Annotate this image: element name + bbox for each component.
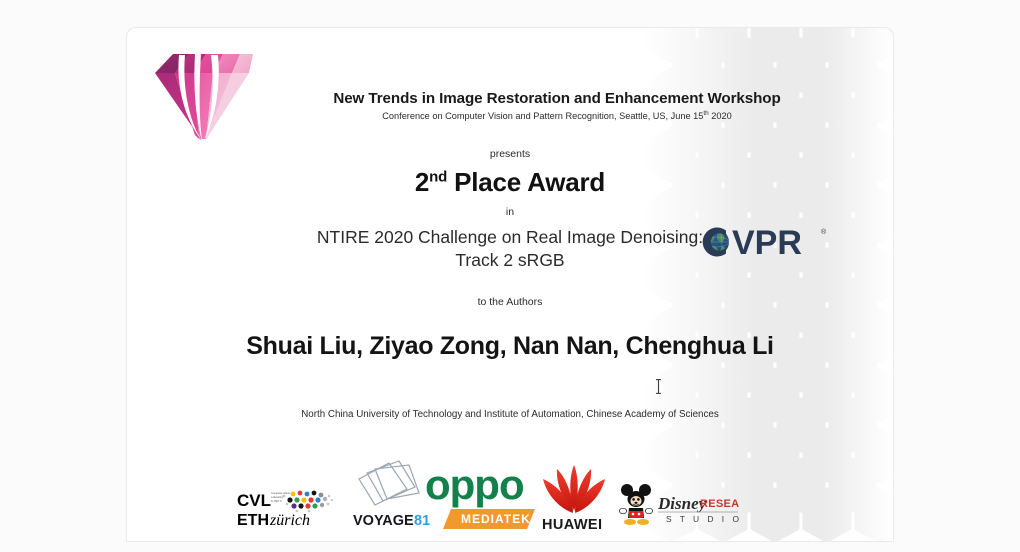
certificate-page: New Trends in Image Restoration and Enha…: [126, 27, 894, 542]
svg-text:D-ITET: D-ITET: [271, 499, 280, 503]
svg-text:Computer Vision: Computer Vision: [271, 491, 291, 495]
sponsor-logo-huawei: HUAWEI: [535, 457, 613, 533]
zurich-text: zürich: [269, 512, 310, 529]
sponsor-logo-row: CVL Computer Vision Laboratory D-ITET: [127, 447, 893, 537]
research-text: RESEARCH: [700, 498, 739, 510]
sponsor-logo-disney-research-studios: Disney RESEARCH S T U D I O S: [614, 481, 739, 529]
huawei-flower-mark: [543, 465, 605, 513]
huawei-text: HUAWEI: [542, 517, 602, 533]
award-body: presents 2nd Place Award in NTIRE 2020 C…: [127, 148, 893, 420]
ntire-diamond-logo: [149, 35, 259, 147]
workshop-header: New Trends in Image Restoration and Enha…: [257, 90, 857, 121]
svg-text:Laboratory: Laboratory: [271, 495, 284, 499]
oppo-text: oppo: [425, 461, 524, 508]
to-the-authors-label: to the Authors: [127, 296, 893, 308]
sponsor-logo-cvl-eth-zurich: CVL Computer Vision Laboratory D-ITET: [237, 489, 337, 531]
cvl-text: CVL: [237, 491, 271, 510]
affiliation: North China University of Technology and…: [127, 409, 893, 420]
workshop-subtitle: Conference on Computer Vision and Patter…: [257, 110, 857, 121]
mediatek-text: MEDIATEK: [461, 512, 531, 526]
presents-label: presents: [127, 148, 893, 160]
workshop-title: New Trends in Image Restoration and Enha…: [257, 90, 857, 107]
eth-text: ETH: [237, 512, 269, 529]
authors-names: Shuai Liu, Ziyao Zong, Nan Nan, Chenghua…: [127, 332, 893, 361]
challenge-name-line-1: NTIRE 2020 Challenge on Real Image Denoi…: [127, 227, 893, 248]
mickey-mouse-figure: [619, 484, 652, 525]
workshop-subtitle-post: 2020: [709, 111, 732, 121]
voyage-text: VOYAGE: [353, 513, 414, 529]
studios-text: S T U D I O S: [666, 514, 739, 524]
workshop-subtitle-pre: Conference on Computer Vision and Patter…: [382, 111, 703, 121]
award-title-ordinal: nd: [429, 168, 447, 185]
challenge-name-line-2: Track 2 sRGB: [127, 250, 893, 271]
award-title-rest: Place Award: [447, 167, 605, 197]
in-label: in: [127, 206, 893, 218]
award-title: 2nd Place Award: [127, 167, 893, 198]
award-title-number: 2: [415, 167, 429, 197]
sponsor-logo-oppo-mediatek: oppo MEDIATEK: [423, 457, 535, 533]
mediatek-badge: MEDIATEK: [443, 509, 535, 529]
